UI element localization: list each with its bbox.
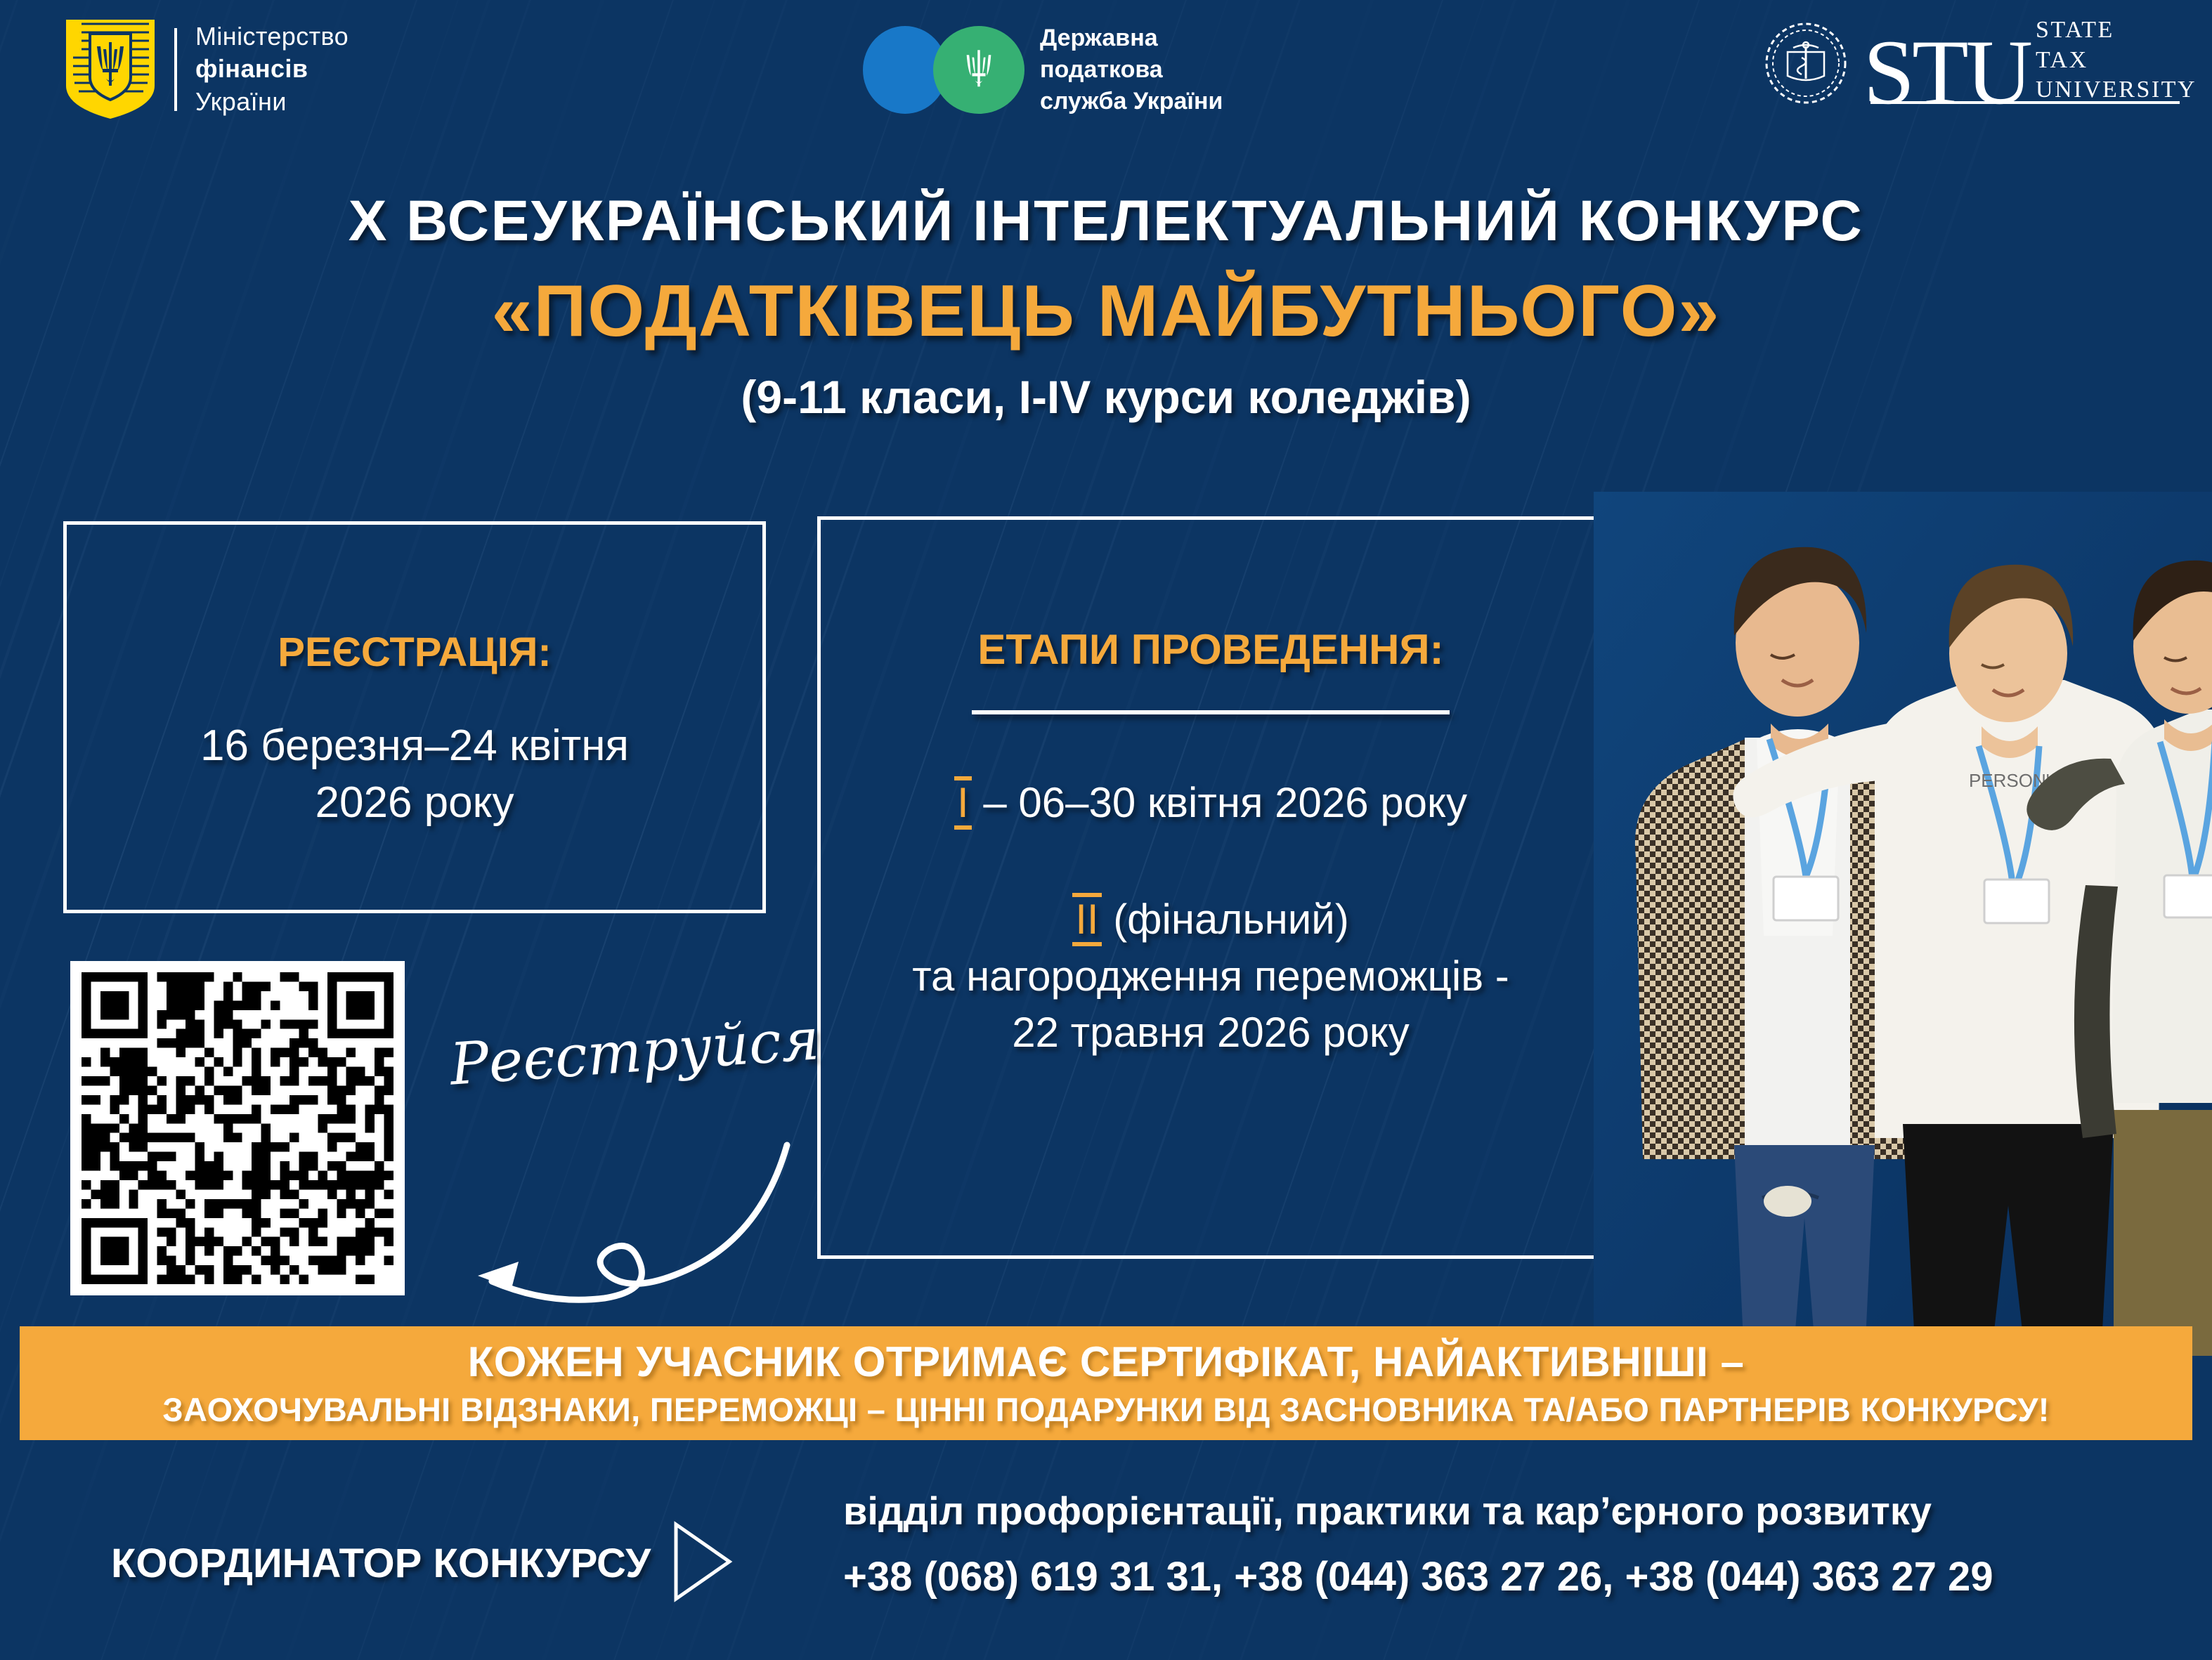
registration-period-line-1: 16 березня–24 квітня — [200, 721, 629, 770]
stages-divider — [972, 710, 1450, 714]
state-tax-service-logo: Державна податкова служба України — [863, 22, 1223, 117]
logo-dot-green — [933, 26, 1024, 114]
stage-1: I – 06–30 квітня 2026 року — [821, 775, 1601, 831]
coordinator-label: КООРДИНАТОР КОНКУРСУ — [111, 1540, 651, 1587]
stage-1-numeral: I — [954, 776, 972, 830]
stu-word-tax: TAX — [2036, 47, 2088, 73]
triangle-right-icon — [670, 1520, 735, 1607]
students-group-photo: PERSON'S — [1594, 492, 2212, 1356]
registration-period: 16 березня–24 квітня 2026 року — [67, 718, 762, 831]
stu-word-state: STATE — [2036, 17, 2114, 43]
qr-code-icon[interactable] — [82, 972, 393, 1284]
tax-service-name: Державна податкова служба України — [1040, 22, 1223, 117]
stage-2-line-2: та нагородження переможців - — [912, 953, 1509, 1000]
stu-word-university: UNIVERSITY — [2036, 77, 2197, 103]
ministry-name: Міністерство фінансів України — [195, 20, 349, 117]
page-title-line-1: X ВСЕУКРАЇНСЬКИЙ ІНТЕЛЕКТУАЛЬНИЙ КОНКУРС — [0, 188, 2212, 254]
stage-2: II (фінальний) та нагородження переможці… — [821, 891, 1601, 1061]
registration-box: РЕЄСТРАЦІЯ: 16 березня–24 квітня 2026 ро… — [63, 521, 766, 913]
title-block: X ВСЕУКРАЇНСЬКИЙ ІНТЕЛЕКТУАЛЬНИЙ КОНКУРС… — [0, 188, 2212, 424]
coordinator-block: КООРДИНАТОР КОНКУРСУ — [111, 1520, 735, 1607]
state-tax-university-logo: STU STATE TAX UNIVERSITY — [1761, 15, 2197, 111]
registration-heading: РЕЄСТРАЦІЯ: — [67, 629, 762, 676]
tax-line-1: Державна — [1040, 25, 1158, 51]
stages-box: ЕТАПИ ПРОВЕДЕННЯ: I – 06–30 квітня 2026 … — [817, 516, 1604, 1259]
banner-line-2: ЗАОХОЧУВАЛЬНІ ВІДЗНАКИ, ПЕРЕМОЖЦІ – ЦІНН… — [162, 1390, 2049, 1429]
banner-line-1: КОЖЕН УЧАСНИК ОТРИМАЄ СЕРТИФІКАТ, НАЙАКТ… — [468, 1338, 1745, 1386]
registration-period-line-2: 2026 року — [315, 778, 514, 827]
footer: КООРДИНАТОР КОНКУРСУ відділ профорієнтац… — [0, 1461, 2212, 1660]
poster-root: Міністерство фінансів України — [0, 0, 2212, 1660]
contact-phones[interactable]: +38 (068) 619 31 31, +38 (044) 363 27 26… — [843, 1553, 1993, 1600]
prize-banner: КОЖЕН УЧАСНИК ОТРИМАЄ СЕРТИФІКАТ, НАЙАКТ… — [20, 1326, 2192, 1440]
stu-full-name: STATE TAX UNIVERSITY — [2036, 15, 2197, 111]
stage-2-numeral: II — [1072, 893, 1101, 946]
page-title-line-2: «ПОДАТКІВЕЦЬ МАЙБУТНЬОГО» — [0, 270, 2212, 353]
stu-wordmark: STU STATE TAX UNIVERSITY — [1863, 15, 2197, 111]
trident-circle-icon — [863, 26, 1024, 114]
ministry-line-1: Міністерство — [195, 22, 349, 51]
contact-department: відділ профорієнтації, практики та кар’є… — [843, 1488, 1993, 1534]
register-call-to-action: Реєструйся — [448, 1008, 788, 1098]
stu-underline — [1871, 101, 2180, 104]
tax-line-2: податкова — [1040, 56, 1163, 83]
ministry-line-2: фінансів — [195, 54, 308, 83]
ministry-line-3: України — [195, 87, 287, 116]
tax-line-3: служба України — [1040, 88, 1223, 115]
logo-divider — [174, 28, 177, 111]
ukraine-trident-shield-icon — [65, 18, 156, 120]
stu-abbreviation: STU — [1863, 34, 2030, 110]
qr-code-container[interactable] — [70, 961, 405, 1295]
ministry-of-finance-logo: Міністерство фінансів України — [65, 18, 349, 120]
header: Міністерство фінансів України — [0, 0, 2212, 151]
contacts-block: відділ профорієнтації, практики та кар’є… — [843, 1488, 1993, 1600]
curved-arrow-left-icon — [393, 1131, 815, 1314]
stages-heading: ЕТАПИ ПРОВЕДЕННЯ: — [821, 625, 1601, 674]
stage-2-label: (фінальний) — [1113, 896, 1349, 943]
laurel-wreath-caduceus-seal-icon — [1761, 18, 1851, 108]
page-title-line-3: (9-11 класи, I-IV курси коледжів) — [0, 370, 2212, 424]
stage-2-line-3: 22 травня 2026 року — [1012, 1009, 1410, 1056]
stage-1-text: – 06–30 квітня 2026 року — [983, 779, 1467, 826]
